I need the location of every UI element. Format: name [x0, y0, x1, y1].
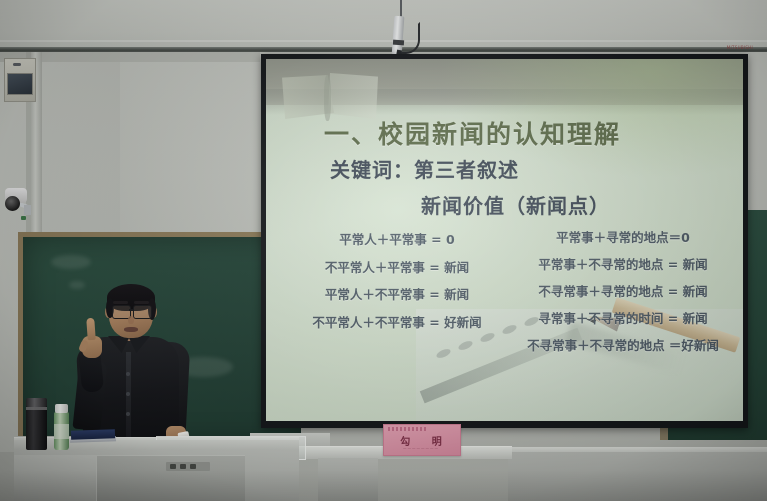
shirt-placket	[126, 352, 131, 440]
equation-item: 寻常事＋不寻常的时间 = 新闻	[538, 308, 707, 327]
thermos-cap	[26, 398, 47, 407]
name-placard-header	[388, 427, 428, 431]
equation-item: 不平常人＋平常事 = 新闻	[325, 257, 469, 276]
side-table-leg	[318, 458, 378, 501]
equation-item: 平常人＋平常事 = 0	[339, 229, 454, 248]
projector-brand-label: MITSUBISHI	[727, 45, 753, 50]
equation-item: 不寻常事＋不寻常的地点 ＝好新闻	[527, 335, 719, 354]
classroom-scene: MITSUBISHI	[0, 0, 767, 501]
ceiling-seam	[0, 40, 767, 42]
shirt-button	[126, 392, 130, 396]
shirt-button	[126, 372, 130, 376]
slide-subtitle-value: 新闻价值（新闻点）	[421, 190, 610, 219]
equation-item: 平常事＋不寻常的地点 = 新闻	[538, 254, 707, 273]
wall-box-knob-icon	[13, 63, 21, 66]
glasses-lens-right-icon	[133, 305, 152, 319]
thermos-ring	[26, 407, 47, 410]
equation-item: 平常人＋不平常事 = 新闻	[325, 284, 469, 303]
equation-item: 不平常人＋不平常事 = 好新闻	[312, 312, 481, 331]
person-nose	[128, 316, 134, 324]
podium-control-key[interactable]	[170, 464, 176, 469]
projection-screen: 一、校园新闻的认知理解 关键词：第三者叙述 新闻价值（新闻点） 平常人＋平常事 …	[266, 59, 743, 421]
chalk-smudge	[51, 255, 91, 269]
water-bottle-cap	[55, 404, 68, 413]
slide-subtitle-keyword: 关键词：第三者叙述	[330, 154, 519, 183]
name-placard-footer: ————————	[383, 446, 459, 450]
right-desk	[508, 452, 767, 501]
person-raised-index-finger	[86, 318, 96, 341]
podium-control-key[interactable]	[180, 464, 186, 469]
slide-text-layer: 一、校园新闻的认知理解 关键词：第三者叙述 新闻价值（新闻点） 平常人＋平常事 …	[266, 59, 743, 421]
glasses-bridge-icon	[129, 309, 134, 311]
slide-title: 一、校园新闻的认知理解	[324, 115, 621, 151]
camera-indicator	[21, 216, 26, 220]
blue-book	[71, 429, 115, 440]
podium-side	[14, 455, 96, 501]
chalk-smudge	[69, 281, 85, 289]
equation-column-right: 平常事＋寻常的地点＝0 平常事＋不寻常的地点 = 新闻 不寻常事＋寻常的地点 =…	[506, 227, 740, 362]
camera-lens-icon	[5, 196, 20, 211]
equation-item: 不寻常事＋寻常的地点 = 新闻	[538, 281, 707, 300]
wall-box-panel	[7, 73, 33, 95]
person-eyebrow-right	[134, 301, 149, 304]
equation-item: 平常事＋寻常的地点＝0	[556, 227, 690, 246]
person-eyebrow-left	[113, 301, 128, 304]
equation-column-left: 平常人＋平常事 = 0 不平常人＋平常事 = 新闻 平常人＋不平常事 = 新闻 …	[292, 229, 502, 339]
person-mouth	[124, 327, 138, 332]
podium-control-key[interactable]	[190, 464, 196, 469]
camera-mount	[24, 205, 31, 215]
shirt-button	[126, 412, 130, 416]
water-bottle-label	[54, 424, 69, 439]
